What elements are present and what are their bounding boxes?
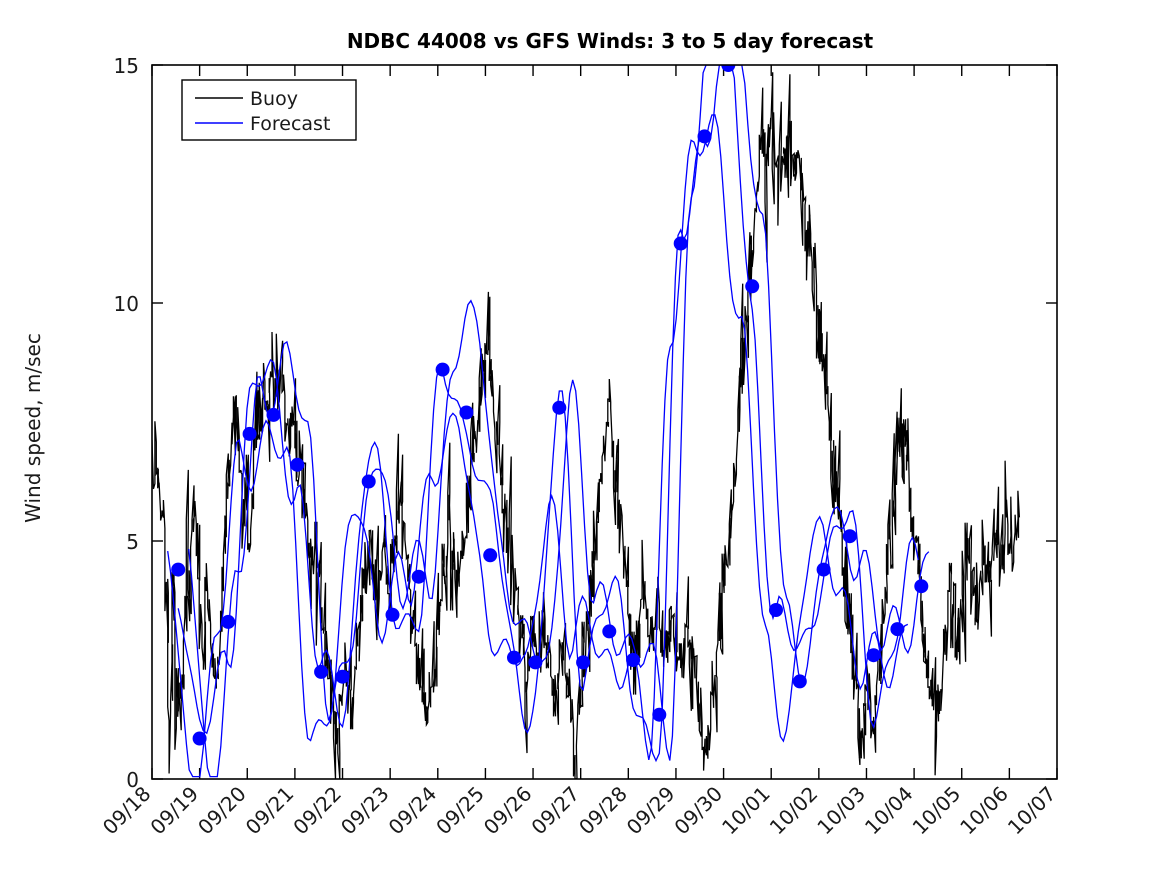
forecast-marker: [843, 529, 857, 543]
forecast-marker: [362, 475, 376, 489]
forecast-marker: [483, 548, 497, 562]
forecast-marker: [267, 408, 281, 422]
wind-speed-chart: NDBC 44008 vs GFS Winds: 3 to 5 day fore…: [0, 0, 1167, 875]
forecast-marker: [769, 603, 783, 617]
forecast-marker: [459, 406, 473, 420]
chart-title: NDBC 44008 vs GFS Winds: 3 to 5 day fore…: [347, 29, 874, 53]
forecast-marker: [412, 570, 426, 584]
forecast-marker: [817, 563, 831, 577]
forecast-marker: [914, 579, 928, 593]
forecast-marker: [193, 732, 207, 746]
forecast-marker: [698, 129, 712, 143]
chart-legend: Buoy Forecast: [182, 80, 356, 140]
legend-label-buoy: Buoy: [250, 88, 298, 110]
forecast-marker: [602, 624, 616, 638]
forecast-marker: [793, 674, 807, 688]
y-axis-label: Wind speed, m/sec: [21, 333, 45, 523]
forecast-marker: [528, 655, 542, 669]
forecast-marker: [336, 670, 350, 684]
forecast-marker: [674, 237, 688, 251]
forecast-marker: [576, 655, 590, 669]
forecast-marker: [626, 653, 640, 667]
y-tick-label: 5: [126, 530, 139, 554]
forecast-marker: [652, 708, 666, 722]
forecast-marker: [507, 651, 521, 665]
legend-label-forecast: Forecast: [250, 113, 330, 135]
forecast-marker: [314, 665, 328, 679]
y-tick-label: 10: [114, 292, 139, 316]
forecast-marker: [221, 615, 235, 629]
forecast-marker: [436, 363, 450, 377]
y-tick-label: 15: [114, 54, 139, 78]
forecast-marker: [171, 563, 185, 577]
forecast-marker: [290, 458, 304, 472]
forecast-marker: [745, 279, 759, 293]
forecast-marker: [386, 608, 400, 622]
forecast-marker: [243, 427, 257, 441]
forecast-marker: [890, 622, 904, 636]
forecast-marker: [552, 401, 566, 415]
forecast-marker: [867, 648, 881, 662]
chart-page: NDBC 44008 vs GFS Winds: 3 to 5 day fore…: [0, 0, 1167, 875]
